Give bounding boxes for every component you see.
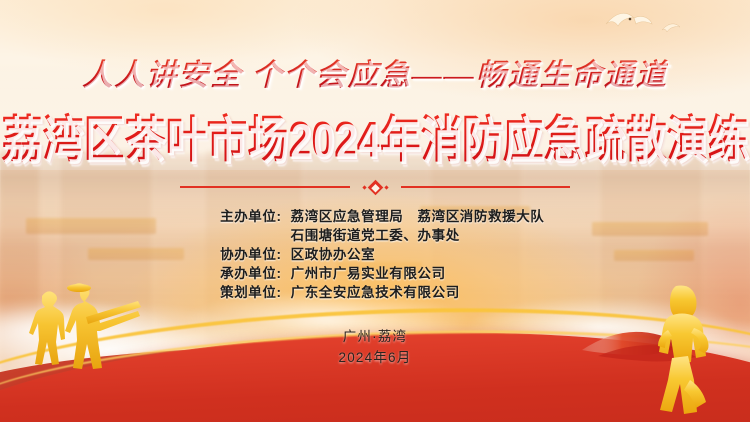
organizer-value-coorganizer: 区政协办公室 — [282, 245, 376, 264]
organizer-row-host-continuation: 石围塘街道党工委、办事处 — [206, 226, 545, 245]
organizer-value-planner: 广东全安应急技术有限公司 — [282, 283, 460, 302]
divider-dot-left — [362, 185, 366, 189]
organizer-label-coorganizer: 协办单位: — [206, 245, 282, 264]
organizer-value-host-continuation: 石围塘街道党工委、办事处 — [282, 226, 460, 245]
divider — [180, 180, 570, 194]
footer-location: 广州·荔湾 — [339, 326, 412, 347]
diamond-ornament-icon — [367, 179, 383, 195]
poster-main-title: 荔湾区茶叶市场2024年消防应急疏散演练 — [1, 98, 748, 171]
organizer-label-planner: 策划单位: — [206, 283, 282, 302]
organizer-label-host: 主办单位: — [206, 207, 282, 226]
poster-footer: 广州·荔湾 2024年6月 — [339, 326, 412, 368]
footer-date: 2024年6月 — [339, 347, 412, 368]
organizer-row-host: 主办单位: 荔湾区应急管理局 荔湾区消防救援大队 — [206, 207, 545, 226]
organizer-block: 主办单位: 荔湾区应急管理局 荔湾区消防救援大队 石围塘街道党工委、办事处 协办… — [206, 207, 545, 302]
organizer-row-undertaker: 承办单位: 广州市广易实业有限公司 — [206, 264, 545, 283]
organizer-label-spacer — [206, 226, 282, 245]
divider-rule-right — [401, 186, 571, 188]
organizer-row-coorganizer: 协办单位: 区政协办公室 — [206, 245, 545, 264]
organizer-label-undertaker: 承办单位: — [206, 264, 282, 283]
organizer-value-host: 荔湾区应急管理局 荔湾区消防救援大队 — [282, 207, 545, 226]
poster-slogan: 人人讲安全 个个会应急——畅通生命通道 — [82, 50, 668, 94]
organizer-row-planner: 策划单位: 广东全安应急技术有限公司 — [206, 283, 545, 302]
poster-canvas: 人人讲安全 个个会应急——畅通生命通道 荔湾区茶叶市场2024年消防应急疏散演练… — [0, 0, 750, 422]
divider-rule-left — [180, 186, 350, 188]
poster-content: 人人讲安全 个个会应急——畅通生命通道 荔湾区茶叶市场2024年消防应急疏散演练… — [0, 0, 750, 422]
organizer-value-undertaker: 广州市广易实业有限公司 — [282, 264, 446, 283]
divider-dot-right — [384, 185, 388, 189]
